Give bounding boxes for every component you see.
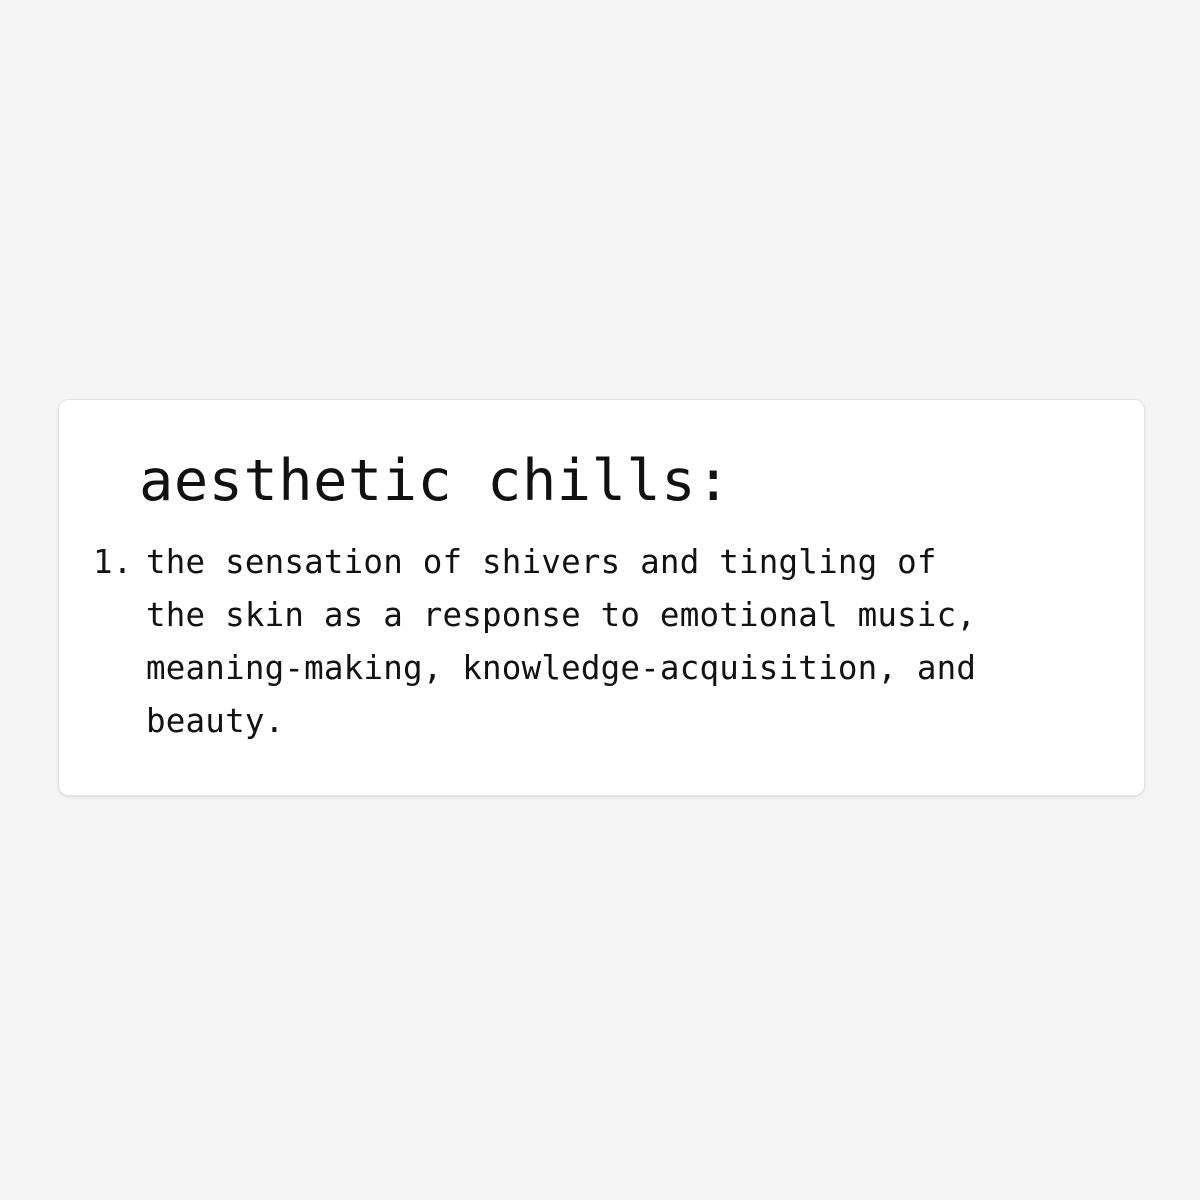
- list-item: 1. the sensation of shivers and tingling…: [93, 536, 1124, 748]
- page-title: aesthetic chills:: [139, 449, 731, 513]
- definition-list: 1. the sensation of shivers and tingling…: [93, 536, 1124, 748]
- page-canvas: aesthetic chills: 1. the sensation of sh…: [0, 0, 1200, 1200]
- list-item-marker: 1.: [93, 536, 146, 589]
- definition-card: aesthetic chills: 1. the sensation of sh…: [58, 399, 1145, 796]
- list-item-text: the sensation of shivers and tingling of…: [146, 536, 1124, 748]
